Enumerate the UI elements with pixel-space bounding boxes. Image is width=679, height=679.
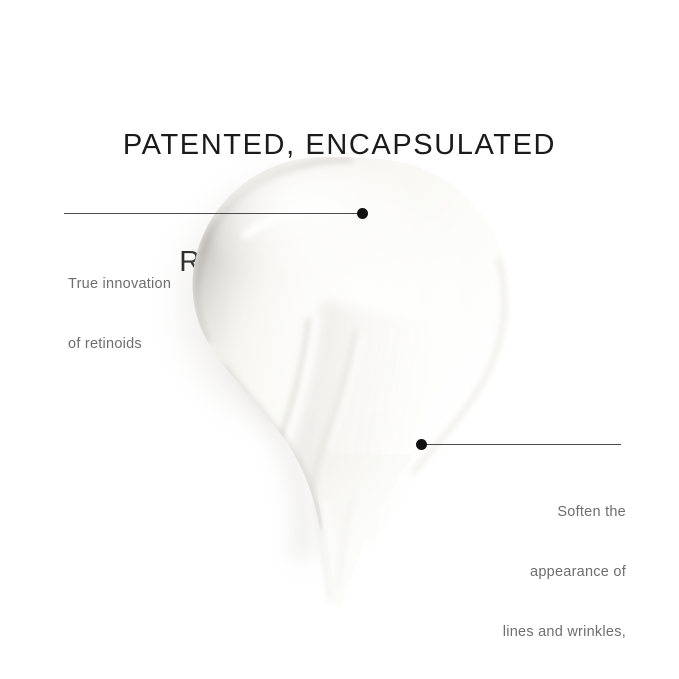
callout-innovation-dot (357, 208, 368, 219)
callout-wrinkles-leader-line (421, 444, 621, 445)
callout-wrinkles-dot (416, 439, 427, 450)
cream-swatch-tail (316, 454, 414, 609)
callout-wrinkles-line-3: lines and wrinkles, (503, 622, 626, 642)
callout-wrinkles-line-2: appearance of (503, 562, 626, 582)
callout-wrinkles-line-1: Soften the (503, 502, 626, 522)
product-infographic: PATENTED, ENCAPSULATED RETINYL RETINOATE (0, 0, 679, 679)
callout-innovation-text: True innovation of retinoids (68, 234, 171, 394)
callout-innovation-leader-line (64, 213, 362, 214)
callout-innovation-line-1: True innovation (68, 274, 171, 294)
page-title-line-1: PATENTED, ENCAPSULATED (0, 126, 679, 165)
callout-innovation-line-2: of retinoids (68, 334, 171, 354)
callout-wrinkles-text: Soften the appearance of lines and wrink… (503, 462, 626, 679)
